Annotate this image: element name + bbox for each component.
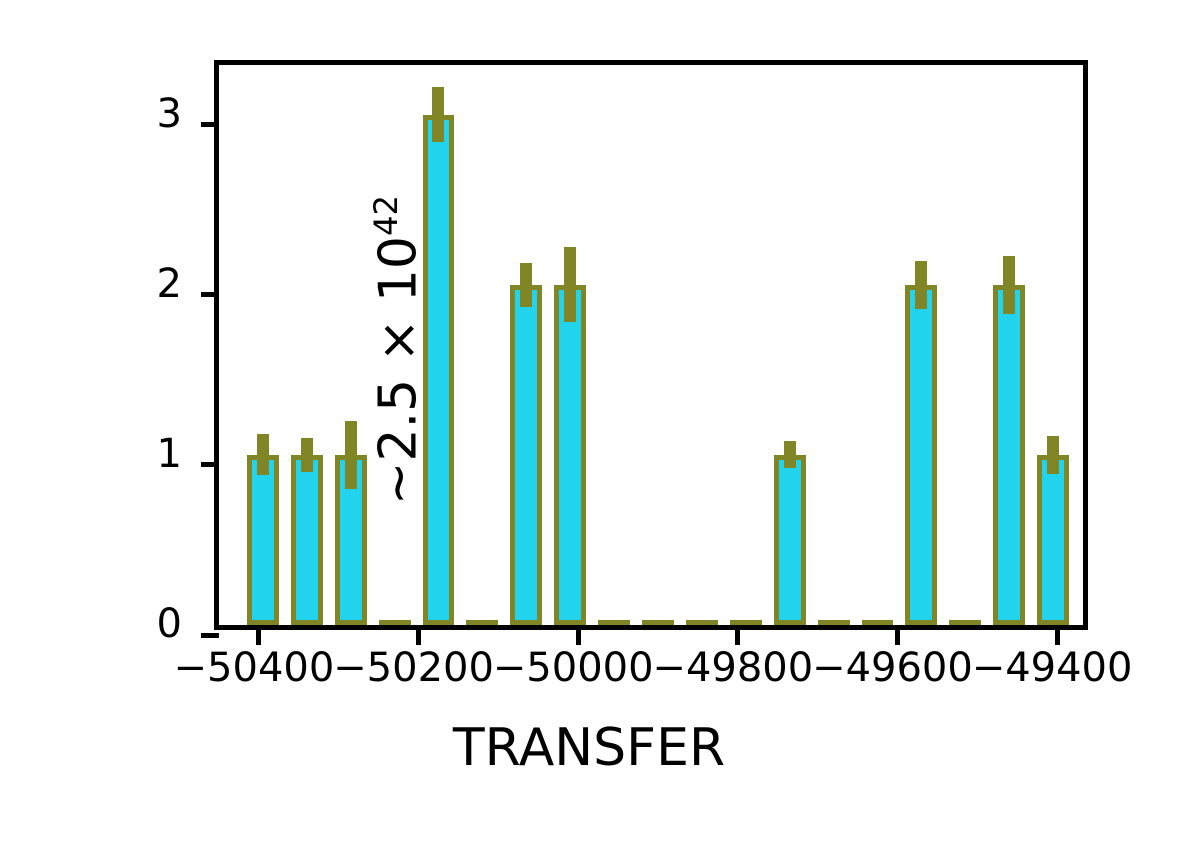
bar	[686, 620, 718, 625]
x-tick-mark	[576, 625, 581, 645]
bar	[818, 620, 850, 625]
x-tick-mark	[256, 625, 261, 645]
bar	[291, 455, 323, 625]
bar	[1037, 455, 1069, 625]
error-bar	[564, 247, 576, 322]
bar	[554, 285, 586, 625]
x-axis-title: TRANSFER	[0, 718, 1178, 778]
bar	[466, 620, 498, 625]
error-bar	[257, 434, 269, 475]
y-tick-label: 2	[0, 264, 182, 304]
plot-area: ~2.5 × 1042	[214, 60, 1088, 630]
bar	[247, 455, 279, 625]
bar	[423, 115, 455, 625]
y-tick-mark	[201, 292, 219, 297]
y-tick-label: 0	[0, 604, 182, 644]
y-tick-mark	[201, 462, 219, 467]
error-bar	[432, 87, 444, 141]
x-tick-mark	[1055, 625, 1060, 645]
x-tick-label: −49800	[652, 645, 813, 691]
bar	[905, 285, 937, 625]
x-tick-label: −50400	[174, 645, 335, 691]
x-tick-label: −50000	[493, 645, 654, 691]
y-tick-mark	[201, 633, 219, 638]
error-bar	[301, 438, 313, 472]
y-tick-mark	[201, 122, 219, 127]
y-tick-label: 3	[0, 94, 182, 134]
error-bar	[520, 263, 532, 307]
x-tick-mark	[735, 625, 740, 645]
bar	[642, 620, 674, 625]
x-tick-label: −50200	[333, 645, 494, 691]
bar	[993, 285, 1025, 625]
x-tick-label: −49600	[812, 645, 973, 691]
error-bar	[1003, 256, 1015, 314]
x-tick-mark	[416, 625, 421, 645]
figure-canvas: ~2.5 × 1042 0123 −50400−50200−50000−4980…	[0, 0, 1178, 862]
bar	[510, 285, 542, 625]
error-bar	[345, 421, 357, 489]
bar	[862, 620, 894, 625]
error-bar	[784, 441, 796, 468]
bar	[949, 620, 981, 625]
bars-layer	[219, 65, 1083, 625]
x-tick-label: −49400	[972, 645, 1133, 691]
bar	[774, 455, 806, 625]
error-bar	[1047, 436, 1059, 473]
bar	[379, 620, 411, 625]
error-bar	[915, 261, 927, 309]
x-tick-mark	[895, 625, 900, 645]
bar	[598, 620, 630, 625]
y-tick-label: 1	[0, 434, 182, 474]
